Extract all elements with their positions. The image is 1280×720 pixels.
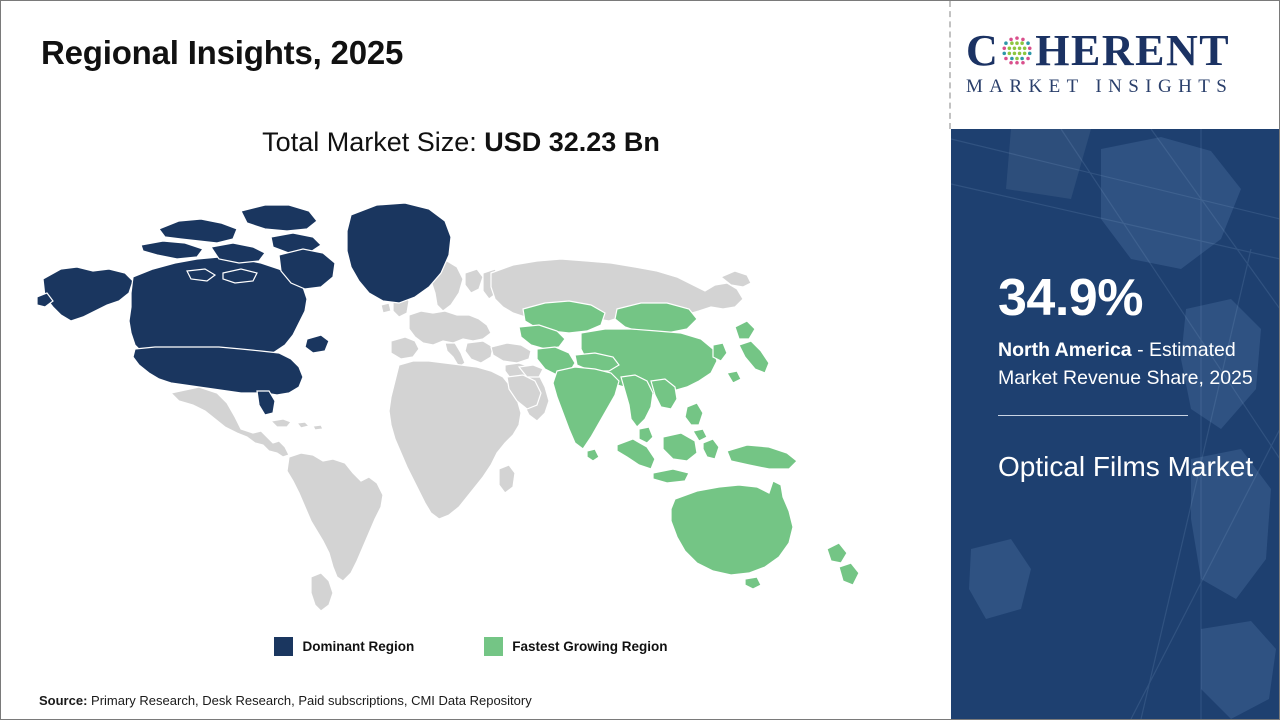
square-swatch-icon xyxy=(274,637,293,656)
legend-item-fastest-growing: Fastest Growing Region xyxy=(484,637,667,656)
legend-item-dominant: Dominant Region xyxy=(274,637,414,656)
globe-dots-icon xyxy=(1000,33,1034,67)
stats-content: 34.9% North America - Estimated Market R… xyxy=(998,272,1263,486)
source-label: Source: xyxy=(39,693,87,708)
market-name: Optical Films Market xyxy=(998,448,1263,487)
left-panel: Regional Insights, 2025 Total Market Siz… xyxy=(1,1,950,719)
brand-tagline: MARKET INSIGHTS xyxy=(966,76,1266,98)
stats-panel: 34.9% North America - Estimated Market R… xyxy=(951,129,1280,719)
page-title: Regional Insights, 2025 xyxy=(41,34,403,72)
world-map-container: .land { fill:#d3d3d3; stroke:#ffffff; st… xyxy=(21,181,901,621)
legend-label-dominant: Dominant Region xyxy=(302,639,414,654)
source-note: Source: Primary Research, Desk Research,… xyxy=(39,693,532,708)
share-caption: North America - Estimated Market Revenue… xyxy=(998,336,1263,393)
total-market-size: Total Market Size: USD 32.23 Bn xyxy=(1,127,921,158)
world-map-svg: .land { fill:#d3d3d3; stroke:#ffffff; st… xyxy=(21,181,901,621)
brand-word-after: HERENT xyxy=(1035,25,1230,76)
square-swatch-icon xyxy=(484,637,503,656)
market-size-value: USD 32.23 Bn xyxy=(484,127,660,157)
brand-logo-block: C xyxy=(951,1,1280,129)
right-panel: C xyxy=(951,1,1280,719)
map-region-fastest-growing xyxy=(519,301,859,589)
map-legend: Dominant Region Fastest Growing Region xyxy=(1,637,941,656)
source-text: Primary Research, Desk Research, Paid su… xyxy=(87,693,531,708)
share-percent: 34.9% xyxy=(998,272,1263,324)
legend-label-fastest-growing: Fastest Growing Region xyxy=(512,639,667,654)
brand-logo: C xyxy=(966,26,1266,98)
brand-word-before: C xyxy=(966,25,999,76)
stats-divider xyxy=(998,415,1188,416)
share-region-name: North America xyxy=(998,339,1132,361)
market-size-label: Total Market Size: xyxy=(262,127,484,157)
brand-wordmark: C xyxy=(966,26,1266,74)
infographic-root: Regional Insights, 2025 Total Market Siz… xyxy=(0,0,1280,720)
